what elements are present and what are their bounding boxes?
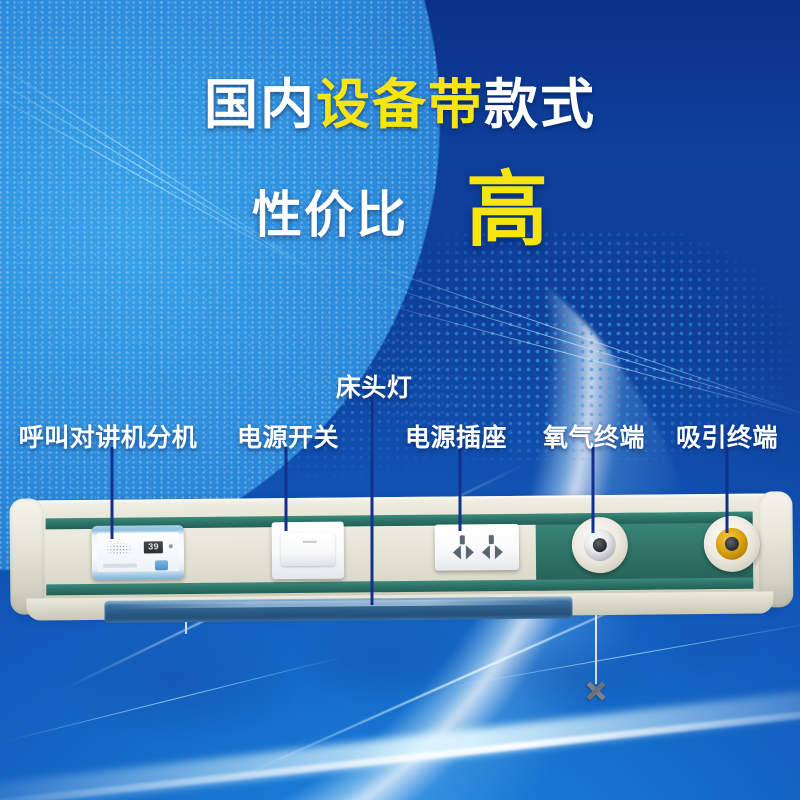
callout-power-socket-line [459, 447, 462, 531]
headline-subtitle: 性价比 [252, 175, 408, 247]
headline-line-2: 性价比 高 [0, 174, 800, 248]
headline-part-3: 款式 [484, 78, 596, 132]
callout-oxygen-label: 氧气终端 [543, 418, 645, 454]
callout-suction-label: 吸引终端 [676, 418, 778, 454]
callout-power-switch-line [285, 447, 288, 531]
headline-emphasis: 高 [466, 174, 548, 248]
callout-intercom-line [111, 447, 114, 539]
callout-oxygen-line [592, 447, 595, 533]
callout-bed-lamp-label: 床头灯 [336, 368, 413, 404]
headline-part-1: 国内 [204, 78, 316, 132]
callout-suction-line [726, 447, 729, 533]
callout-power-socket-label: 电源插座 [405, 418, 507, 454]
callout-bed-lamp-line [371, 397, 374, 605]
headline-line-1: 国内设备带款式 [0, 78, 800, 132]
headline-block: 国内设备带款式 性价比 高 [0, 78, 800, 132]
callout-power-switch-label: 电源开关 [237, 418, 339, 454]
callout-intercom-label: 呼叫对讲机分机 [19, 418, 198, 454]
headline-part-2: 设备带 [316, 78, 484, 132]
product-poster: 国内设备带款式 性价比 高 呼叫对讲机分机电源开关床头灯电源插座氧气终端吸引终端… [0, 0, 800, 800]
